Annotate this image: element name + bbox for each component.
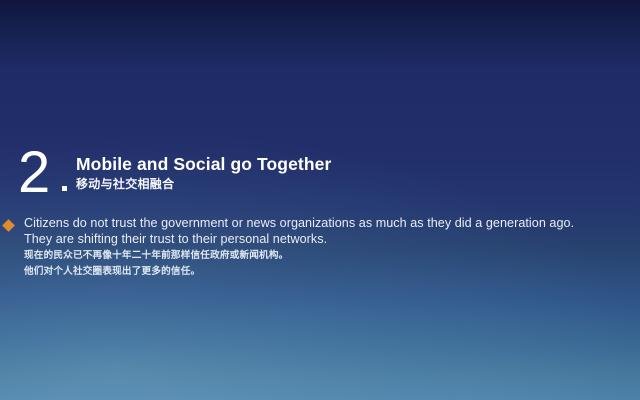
diamond-bullet-icon	[2, 219, 15, 232]
bullet-chinese-line-1: 现在的民众已不再像十年二十年前那样信任政府或新闻机构。	[24, 250, 638, 263]
slide-content: 2 Mobile and Social go Together 移动与社交相融合…	[0, 0, 640, 400]
slide-title-chinese: 移动与社交相融合	[76, 177, 174, 192]
presentation-slide: 2 Mobile and Social go Together 移动与社交相融合…	[0, 0, 640, 400]
slide-number-dot	[62, 186, 67, 191]
slide-title-english: Mobile and Social go Together	[76, 154, 331, 174]
slide-number: 2	[18, 144, 49, 202]
bullet-english-line-2: They are shifting their trust to their p…	[24, 232, 638, 248]
bullet-english-line-1: Citizens do not trust the government or …	[24, 216, 638, 232]
bullet-chinese-line-2: 他们对个人社交圈表现出了更多的信任。	[24, 266, 638, 279]
bullet-text-block: Citizens do not trust the government or …	[24, 216, 638, 278]
